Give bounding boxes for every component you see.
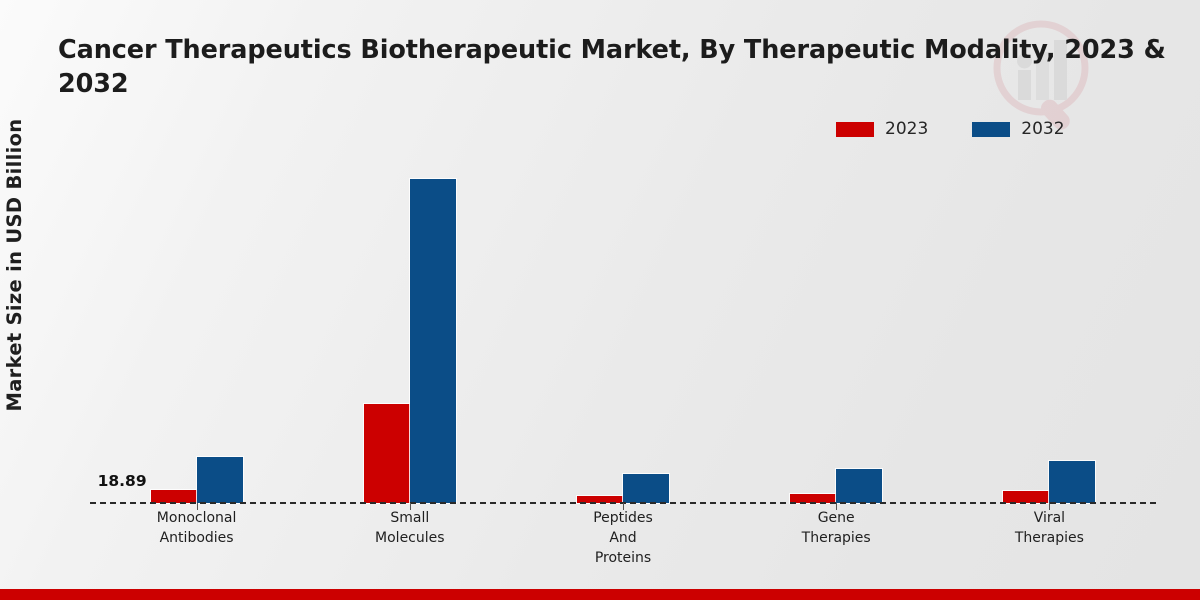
bar-2032-gene-therapies[interactable] <box>836 469 882 503</box>
bar-2032-peptides-and-proteins[interactable] <box>623 474 669 503</box>
x-axis-category-label: SmallMolecules <box>325 509 495 549</box>
legend-item-2032[interactable]: 2032 <box>972 119 1064 139</box>
chart-legend: 2023 2032 <box>836 119 1065 139</box>
x-axis-category-label: PeptidesAndProteins <box>538 509 708 569</box>
chart-canvas: Cancer Therapeutics Biotherapeutic Marke… <box>0 0 1200 600</box>
chart-title-line2: 2032 <box>58 68 1200 102</box>
y-axis-title: Market Size in USD Billion <box>3 0 37 565</box>
legend-label-2023: 2023 <box>885 119 928 139</box>
chart-title: Cancer Therapeutics Biotherapeutic Marke… <box>58 34 1200 101</box>
chart-title-line1: Cancer Therapeutics Biotherapeutic Marke… <box>58 35 1166 65</box>
legend-swatch-2023 <box>836 122 874 137</box>
bar-2032-viral-therapies[interactable] <box>1049 461 1095 503</box>
bar-2032-small-molecules[interactable] <box>410 179 456 503</box>
plot-area <box>90 160 1156 503</box>
legend-swatch-2032 <box>972 122 1010 137</box>
legend-label-2032: 2032 <box>1021 119 1064 139</box>
bar-2032-monoclonal-antibodies[interactable] <box>197 457 243 503</box>
x-axis-category-label: ViralTherapies <box>964 509 1134 549</box>
bar-2023-small-molecules[interactable] <box>364 404 410 503</box>
footer-accent-band <box>0 589 1200 600</box>
x-axis-category-label: MonoclonalAntibodies <box>112 509 282 549</box>
bar-value-label: 18.89 <box>98 472 147 490</box>
x-axis-category-label: GeneTherapies <box>751 509 921 549</box>
legend-item-2023[interactable]: 2023 <box>836 119 928 139</box>
